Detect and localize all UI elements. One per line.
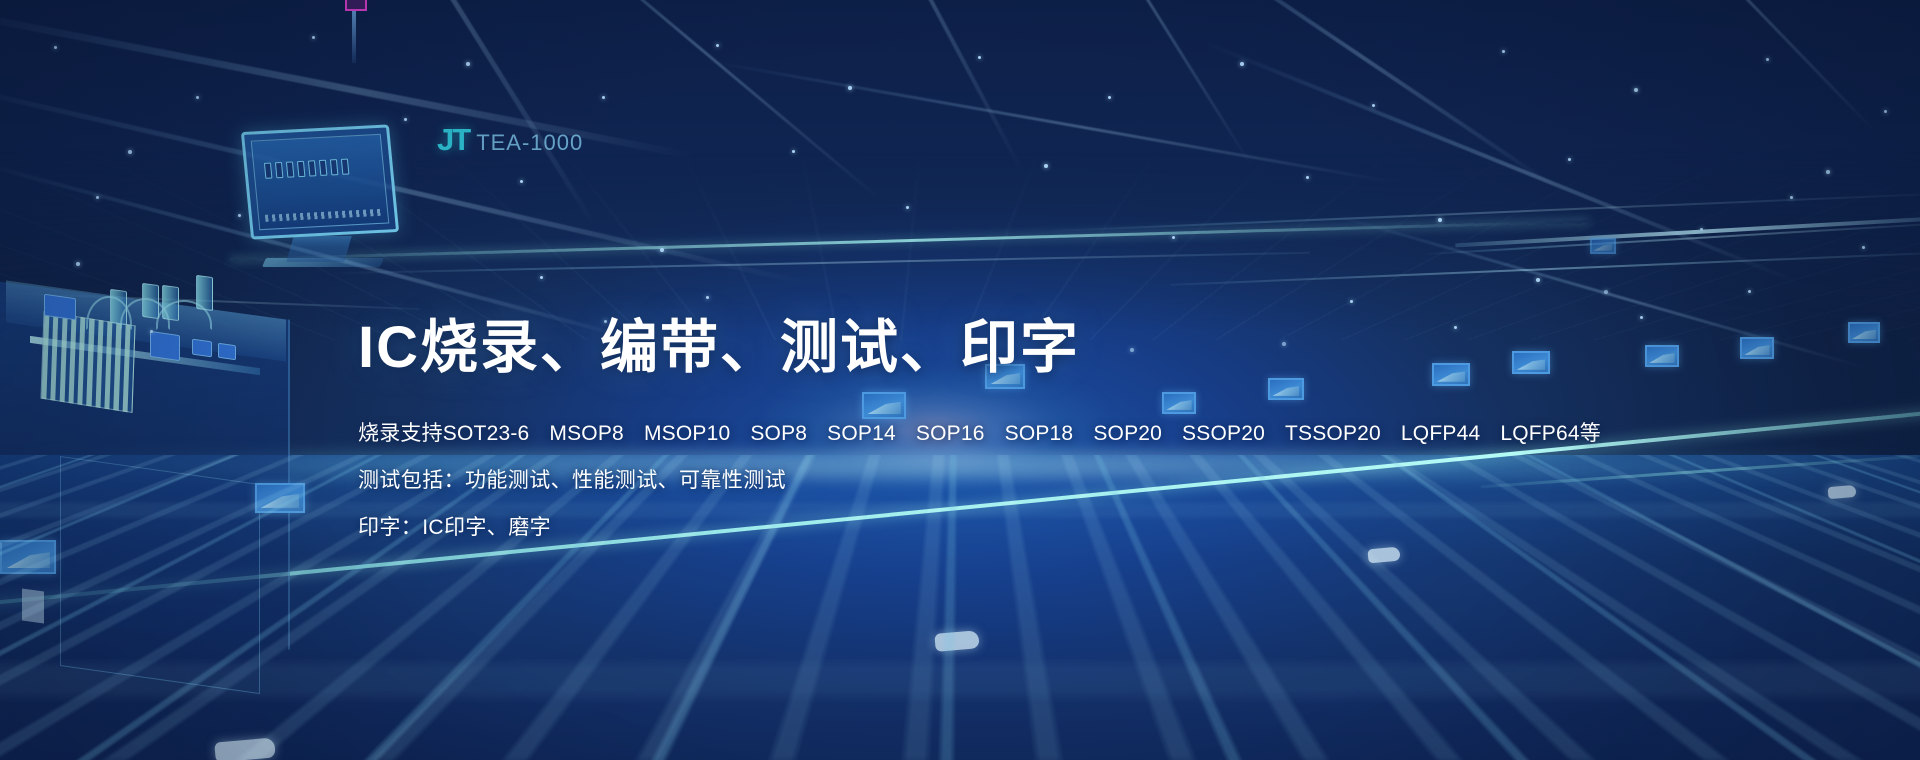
hero-banner: JT TEA-1000 IC烧录、编带、测试、印字 烧录支持SOT23-6MSO…: [0, 0, 1920, 760]
vignette-overlay: [0, 0, 1920, 760]
